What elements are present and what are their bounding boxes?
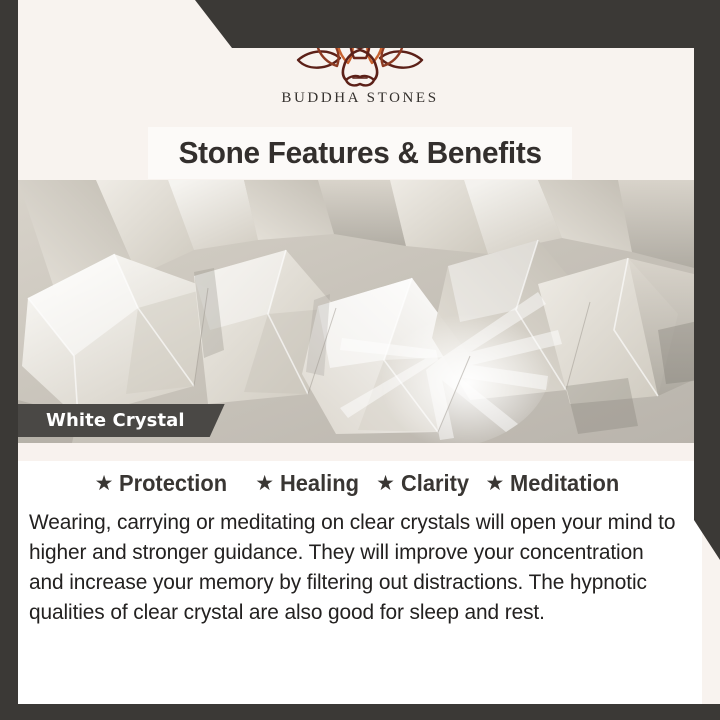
star-icon: ★: [376, 473, 395, 494]
brand-header: BUDDHA STONES: [18, 14, 702, 126]
crystal-photo: [18, 180, 702, 443]
page-title: Stone Features & Benefits: [178, 135, 541, 171]
star-icon: ★: [255, 473, 274, 494]
frame-left-bar: [0, 0, 18, 720]
photo-caption-tag: White Crystal: [18, 404, 225, 437]
benefit-label-healing: Healing: [280, 470, 359, 497]
description-paragraph: Wearing, carrying or meditating on clear…: [29, 507, 681, 627]
benefit-item-meditation: ★ Meditation: [486, 470, 626, 497]
benefit-label-protection: Protection: [119, 470, 227, 497]
brand-wordmark: BUDDHA STONES: [281, 90, 438, 107]
benefits-row: ★ Protection ★ Healing ★ Clarity ★ Medit…: [18, 470, 702, 497]
photo-caption-label: White Crystal: [46, 410, 185, 431]
benefit-item-clarity: ★ Clarity: [376, 470, 472, 497]
star-icon: ★: [486, 473, 505, 494]
lotus-meditation-figure-icon: [284, 14, 436, 88]
benefit-label-meditation: Meditation: [510, 470, 619, 497]
crystal-photo-illustration: [18, 180, 702, 443]
cream-divider-strip: [18, 443, 702, 461]
content-panel: ★ Protection ★ Healing ★ Clarity ★ Medit…: [18, 461, 702, 704]
infographic-canvas: BUDDHA STONES Stone Features & Benefits: [0, 0, 720, 720]
title-banner: Stone Features & Benefits: [148, 127, 572, 179]
benefit-item-healing: ★ Healing: [255, 470, 363, 497]
benefit-item-protection: ★ Protection: [95, 470, 234, 497]
star-icon: ★: [95, 473, 114, 494]
benefit-label-clarity: Clarity: [401, 470, 469, 497]
